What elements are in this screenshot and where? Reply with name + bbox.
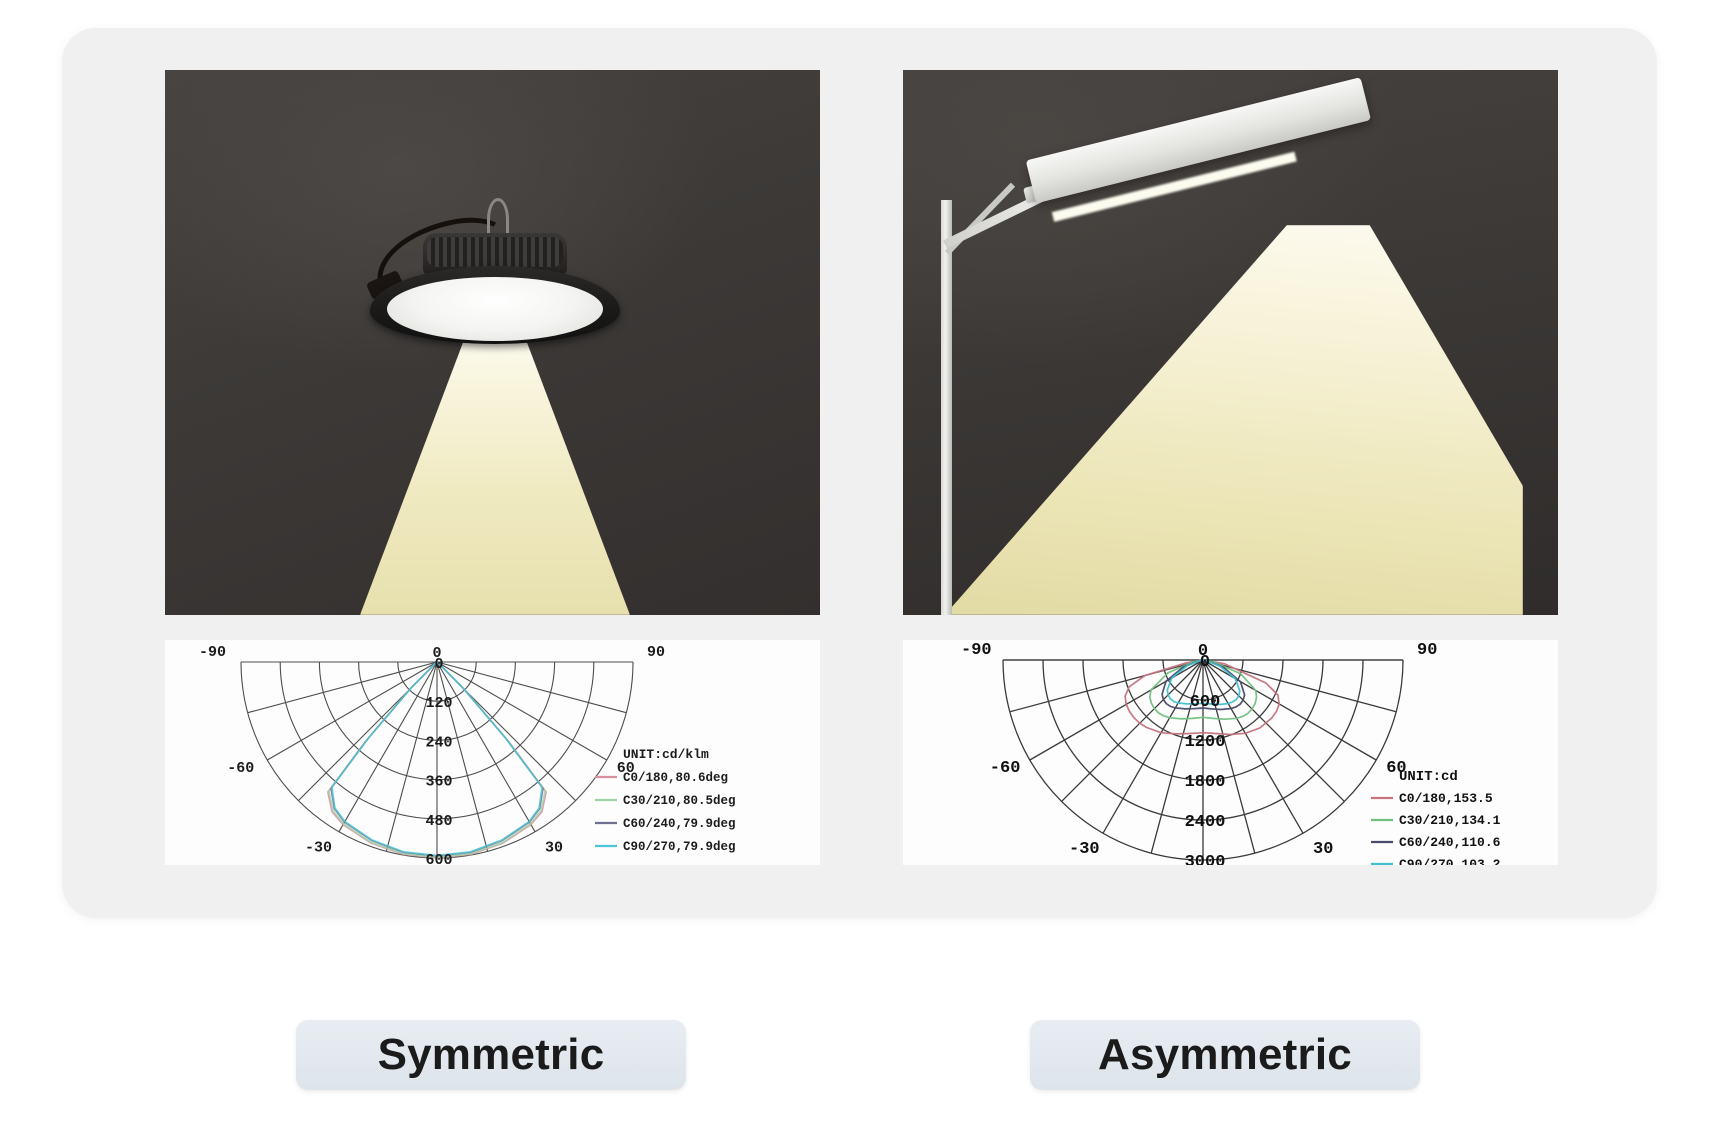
svg-text:UNIT:cd: UNIT:cd <box>1399 769 1458 785</box>
svg-text:240: 240 <box>425 734 452 751</box>
street-light-pole <box>941 200 952 615</box>
svg-text:1200: 1200 <box>1185 733 1226 752</box>
svg-text:C60/240,110.6: C60/240,110.6 <box>1399 835 1501 850</box>
svg-text:90: 90 <box>1417 641 1437 660</box>
svg-text:90: 90 <box>647 644 665 661</box>
infographic-root: 0120240360480600 -90-60-303060900 UNIT:c… <box>0 0 1715 1125</box>
svg-text:-30: -30 <box>1069 840 1100 859</box>
svg-text:480: 480 <box>425 813 452 830</box>
polar-chart-asymmetric: 06001200180024003000 -90-60-303060900 UN… <box>903 640 1558 865</box>
svg-text:C90/270,103.2: C90/270,103.2 <box>1399 857 1501 865</box>
polar-chart-symmetric-svg: 0120240360480600 -90-60-303060900 UNIT:c… <box>165 640 820 865</box>
heatsink-fins <box>427 237 563 267</box>
svg-text:-30: -30 <box>305 840 332 857</box>
svg-text:30: 30 <box>1313 840 1333 859</box>
product-photo-asymmetric <box>903 70 1558 615</box>
svg-text:C90/270,79.9deg: C90/270,79.9deg <box>623 840 736 854</box>
svg-text:2400: 2400 <box>1185 813 1226 832</box>
svg-text:C60/240,79.9deg: C60/240,79.9deg <box>623 817 736 831</box>
svg-text:30: 30 <box>545 840 563 857</box>
svg-text:C0/180,80.6deg: C0/180,80.6deg <box>623 771 728 785</box>
svg-text:C0/180,153.5: C0/180,153.5 <box>1399 791 1493 806</box>
svg-text:3000: 3000 <box>1185 853 1226 865</box>
product-photo-symmetric <box>165 70 820 615</box>
svg-text:-90: -90 <box>199 644 226 661</box>
polar-chart-symmetric: 0120240360480600 -90-60-303060900 UNIT:c… <box>165 640 820 865</box>
high-bay-lens <box>387 277 603 341</box>
svg-text:UNIT:cd/klm: UNIT:cd/klm <box>623 747 709 762</box>
svg-text:360: 360 <box>425 774 452 791</box>
svg-text:1800: 1800 <box>1185 773 1226 792</box>
caption-symmetric: Symmetric <box>296 1020 686 1090</box>
svg-text:0: 0 <box>1198 642 1208 661</box>
svg-text:C30/210,80.5deg: C30/210,80.5deg <box>623 794 736 808</box>
svg-text:120: 120 <box>425 695 452 712</box>
svg-text:C30/210,134.1: C30/210,134.1 <box>1399 813 1501 828</box>
svg-text:-60: -60 <box>990 759 1021 778</box>
svg-text:600: 600 <box>1190 693 1221 712</box>
svg-text:-90: -90 <box>961 641 992 660</box>
svg-text:-60: -60 <box>227 760 254 777</box>
polar-chart-asymmetric-svg: 06001200180024003000 -90-60-303060900 UN… <box>903 640 1558 865</box>
caption-asymmetric: Asymmetric <box>1030 1020 1420 1090</box>
svg-text:600: 600 <box>425 852 452 865</box>
svg-text:0: 0 <box>432 645 441 662</box>
